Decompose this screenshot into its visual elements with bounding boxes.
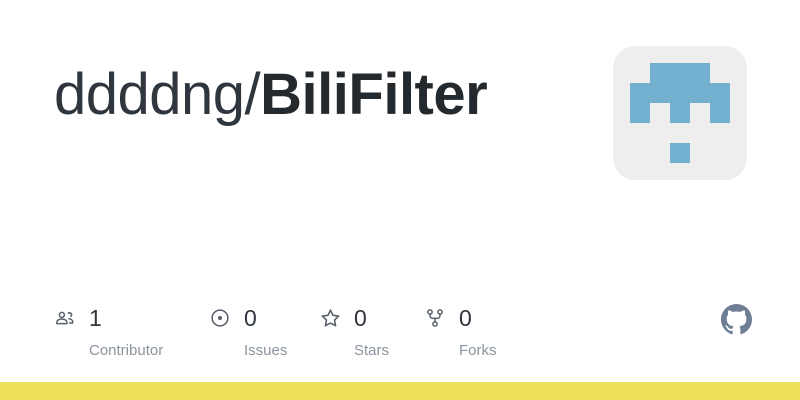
identicon-pixel: [630, 83, 650, 103]
github-mark-icon: [721, 304, 752, 335]
identicon-pixel: [670, 83, 690, 103]
stat-issues-value: 0: [244, 307, 257, 330]
stat-stars-top: 0: [319, 305, 367, 331]
identicon-pixel: [630, 63, 650, 83]
identicon-pixel: [630, 123, 650, 143]
identicon-pixel: [690, 63, 710, 83]
identicon-pixel: [650, 123, 670, 143]
stat-forks: 0 Forks: [424, 305, 524, 358]
identicon-pixel: [630, 143, 650, 163]
identicon-pixel: [710, 103, 730, 123]
identicon-pixel: [690, 143, 710, 163]
identicon-pixel: [670, 103, 690, 123]
repo-separator: /: [245, 62, 261, 127]
stat-contributors-label: Contributor: [89, 343, 163, 358]
repo-name: BiliFilter: [260, 62, 487, 127]
stat-issues-label: Issues: [244, 343, 287, 358]
identicon-pixel: [690, 123, 710, 143]
identicon-pixel: [650, 63, 670, 83]
stat-contributors-value: 1: [89, 307, 102, 330]
stat-forks-value: 0: [459, 307, 472, 330]
identicon-pixel: [710, 83, 730, 103]
issue-opened-icon: [209, 307, 231, 329]
identicon-pixel: [670, 123, 690, 143]
stat-issues: 0 Issues: [209, 305, 319, 358]
repository-stats: 1 Contributor 0 Issues: [54, 305, 524, 358]
stat-contributors: 1 Contributor: [54, 305, 209, 358]
avatar: [613, 46, 747, 180]
stat-stars-label: Stars: [354, 343, 389, 358]
stat-stars: 0 Stars: [319, 305, 424, 358]
repo-owner: ddddng: [54, 62, 245, 127]
stat-forks-label: Forks: [459, 343, 497, 358]
identicon-pixel: [710, 143, 730, 163]
identicon-pixel: [710, 123, 730, 143]
stat-issues-top: 0: [209, 305, 257, 331]
page-title: ddddng/BiliFilter: [54, 66, 487, 124]
repository-social-preview-card: ddddng/BiliFilter 1 Contributor: [0, 0, 800, 400]
identicon-pixel: [650, 83, 670, 103]
identicon-pixel: [710, 63, 730, 83]
stat-contributors-top: 1: [54, 305, 102, 331]
identicon-pixel: [670, 143, 690, 163]
identicon-grid: [630, 63, 730, 163]
people-icon: [54, 307, 76, 329]
identicon-pixel: [650, 143, 670, 163]
stat-forks-top: 0: [424, 305, 472, 331]
identicon-pixel: [630, 103, 650, 123]
stat-stars-value: 0: [354, 307, 367, 330]
accent-bar: [0, 382, 800, 400]
identicon-pixel: [690, 83, 710, 103]
star-icon: [319, 307, 341, 329]
identicon-pixel: [670, 63, 690, 83]
identicon-pixel: [690, 103, 710, 123]
repo-forked-icon: [424, 307, 446, 329]
card-header: ddddng/BiliFilter: [54, 46, 747, 186]
identicon-pixel: [650, 103, 670, 123]
